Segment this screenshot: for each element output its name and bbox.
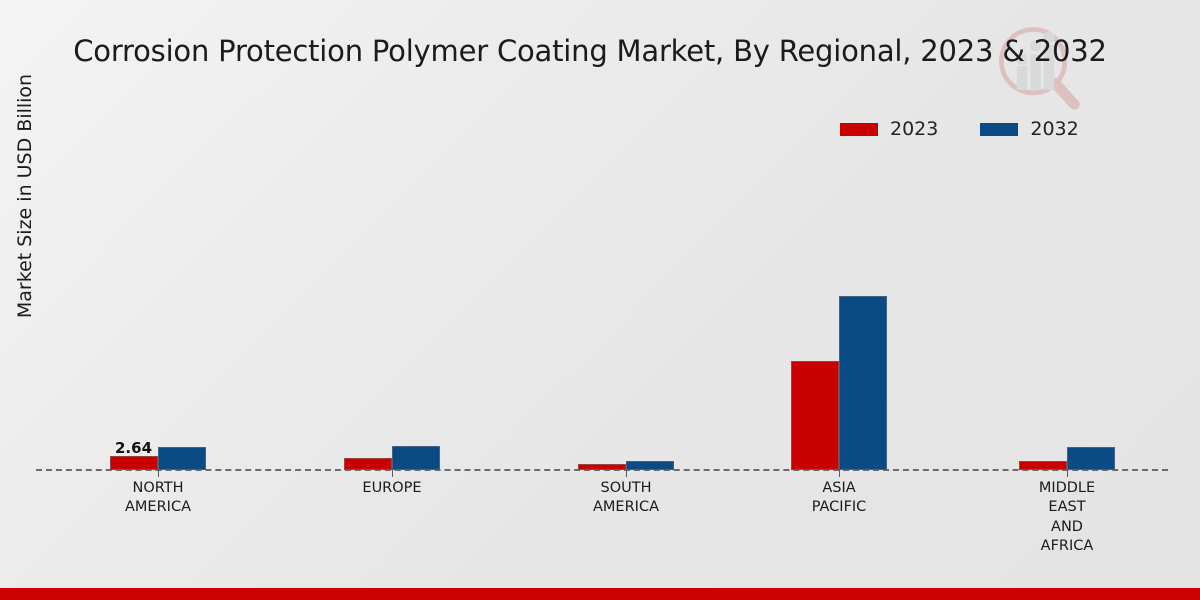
chart-canvas: Corrosion Protection Polymer Coating Mar…	[0, 0, 1200, 600]
axis-tick-south-america	[626, 470, 627, 477]
footer-accent-bar	[0, 588, 1200, 600]
bar-2023-south-america[interactable]	[578, 464, 626, 470]
bar-2023-europe[interactable]	[344, 458, 392, 470]
bar-value-north-america-2023: 2.64	[115, 439, 152, 457]
axis-label-south-america: SOUTH AMERICA	[536, 479, 716, 518]
bar-2032-asia-pacific[interactable]	[839, 296, 887, 470]
axis-tick-asia-pacific	[839, 470, 840, 477]
bar-2032-north-america[interactable]	[158, 447, 206, 470]
axis-label-middle-east-and-africa: MIDDLE EAST AND AFRICA	[977, 479, 1157, 556]
axis-tick-europe	[392, 470, 393, 477]
axis-label-asia-pacific: ASIA PACIFIC	[749, 479, 929, 518]
axis-label-europe: EUROPE	[302, 479, 482, 498]
axis-tick-middle-east-and-africa	[1067, 470, 1068, 477]
bar-2023-north-america[interactable]	[110, 456, 158, 470]
plot-area: 2.64 NORTH AMERICA EUROPE SOUTH AMERICA …	[0, 0, 1200, 600]
bar-2032-south-america[interactable]	[626, 461, 674, 470]
bar-2032-middle-east-and-africa[interactable]	[1067, 447, 1115, 470]
bar-2023-middle-east-and-africa[interactable]	[1019, 461, 1067, 470]
axis-label-north-america: NORTH AMERICA	[68, 479, 248, 518]
axis-tick-north-america	[158, 470, 159, 477]
bar-2032-europe[interactable]	[392, 446, 440, 470]
bar-2023-asia-pacific[interactable]	[791, 361, 839, 470]
